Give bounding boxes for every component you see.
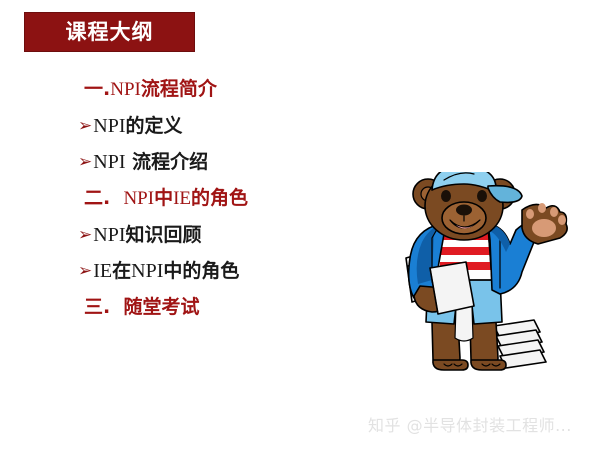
list-item-bullet-1: ➢NPI的定义 [78,111,368,141]
page-title: 课程大纲 [66,22,154,43]
cartoon-bear-illustration [388,172,574,380]
bullet-4-text: IE在NPI中的角色 [93,256,239,286]
bullet-1-text: NPI的定义 [93,111,182,141]
bullet-arrow-icon: ➢ [78,256,92,286]
list-item-heading-3: 三. 随堂考试 [78,292,368,322]
heading-3-text: 三. 随堂考试 [84,292,199,322]
bullet-arrow-icon: ➢ [78,111,92,141]
list-item-heading-1: 一.NPI流程简介 [78,74,368,105]
bullet-2-text: NPI 流程介绍 [93,147,208,177]
bullet-arrow-icon: ➢ [78,147,92,177]
bullet-3-text: NPI知识回顾 [93,220,201,250]
heading-1-text: 一.NPI流程简介 [84,74,217,105]
heading-2-text: 二. NPI中IE的角色 [84,183,248,214]
list-item-heading-2: 二. NPI中IE的角色 [78,183,368,214]
list-item-bullet-3: ➢NPI知识回顾 [78,220,368,250]
page-title-banner: 课程大纲 [24,12,195,52]
list-item-bullet-4: ➢IE在NPI中的角色 [78,256,368,286]
outline-list: 一.NPI流程简介 ➢NPI的定义 ➢NPI 流程介绍 二. NPI中IE的角色… [78,74,368,328]
slide-canvas: 课程大纲 一.NPI流程简介 ➢NPI的定义 ➢NPI 流程介绍 二. NPI中… [0,0,600,450]
bullet-arrow-icon: ➢ [78,220,92,250]
list-item-bullet-2: ➢NPI 流程介绍 [78,147,368,177]
watermark-text: 知乎 @半导体封装工程师... [368,412,572,436]
